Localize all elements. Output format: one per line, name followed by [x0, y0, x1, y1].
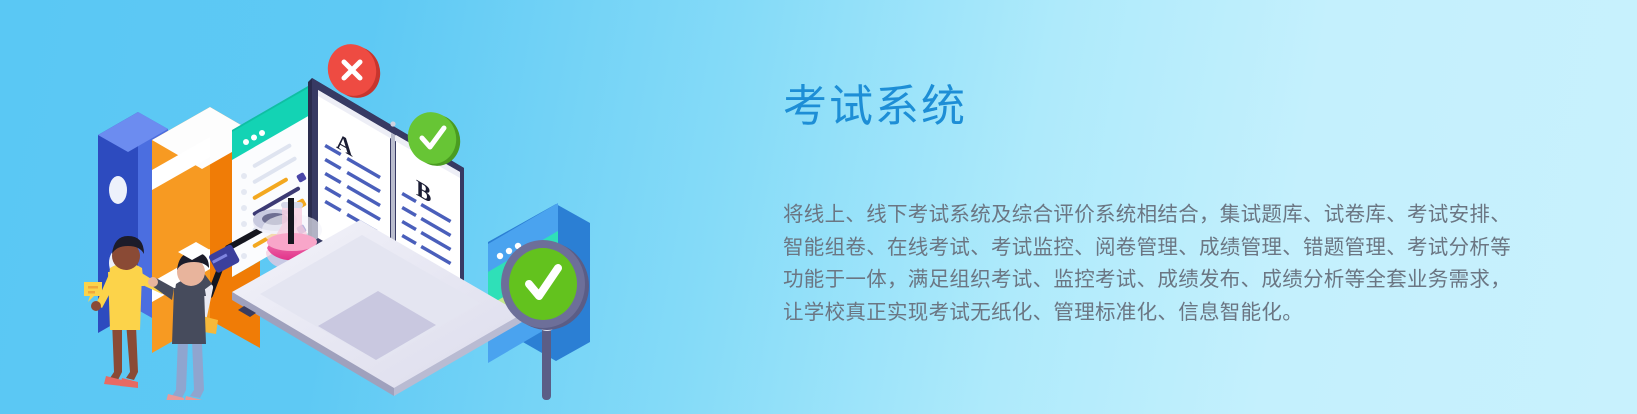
description-line: 将线上、线下考试系统及综合评价系统相结合，集试题库、试卷库、考试安排、: [783, 199, 1523, 232]
page-title: 考试系统: [783, 78, 1523, 136]
description-line: 让学校真正实现考试无纸化、管理标准化、信息智能化。: [783, 297, 1523, 330]
description-line: 智能组卷、在线考试、考试监控、阅卷管理、成绩管理、错题管理、考试分析等: [783, 232, 1523, 265]
banner-text-block: 考试系统 将线上、线下考试系统及综合评价系统相结合，集试题库、试卷库、考试安排、…: [783, 78, 1523, 329]
banner-description: 将线上、线下考试系统及综合评价系统相结合，集试题库、试卷库、考试安排、 智能组卷…: [783, 199, 1523, 329]
exam-system-isometric-illustration: A B: [60, 20, 640, 400]
description-line: 功能于一体，满足组织考试、监控考试、成绩发布、成绩分析等全套业务需求，: [783, 264, 1523, 297]
exam-system-banner: A B: [0, 0, 1637, 414]
